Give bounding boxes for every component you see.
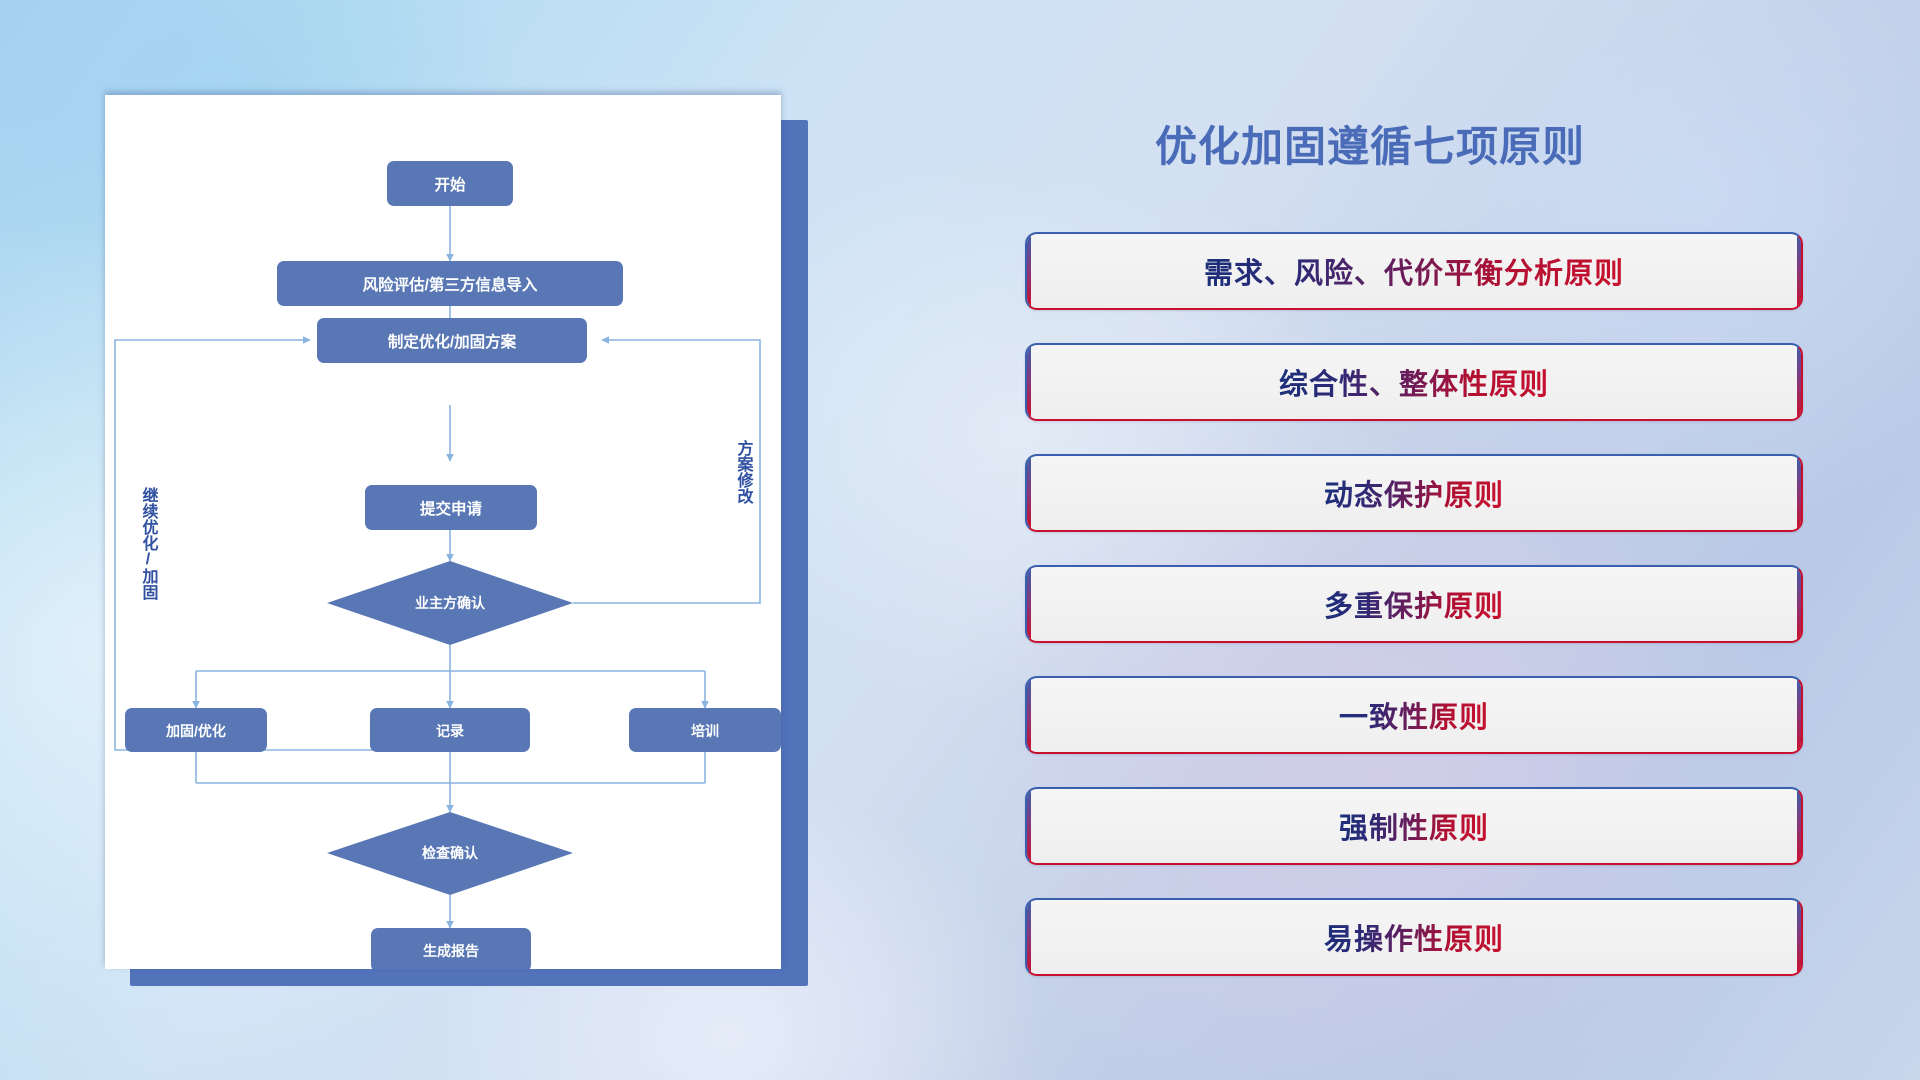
principle-card-4[interactable]: 多重保护原则 xyxy=(1025,565,1803,643)
node-risk-assessment[interactable]: 风险评估/第三方信息导入 xyxy=(277,261,623,306)
principle-card-label: 动态保护原则 xyxy=(1324,472,1504,514)
flowchart-diagram: 开始 风险评估/第三方信息导入 制定优化/加固方案 提交申请 业主方确认 xyxy=(105,95,781,969)
node-start[interactable]: 开始 xyxy=(387,161,513,206)
principle-card-2[interactable]: 综合性、整体性原则 xyxy=(1025,343,1803,421)
node-reinforce-optimize-label: 加固/优化 xyxy=(165,723,226,739)
principle-card-label: 一致性原则 xyxy=(1339,694,1489,736)
principle-card-5[interactable]: 一致性原则 xyxy=(1025,676,1803,754)
flowchart-nodes: 开始 风险评估/第三方信息导入 制定优化/加固方案 提交申请 业主方确认 xyxy=(125,161,781,969)
node-record[interactable]: 记录 xyxy=(370,708,530,752)
node-record-label: 记录 xyxy=(436,723,464,739)
node-owner-confirm-label: 业主方确认 xyxy=(415,595,486,611)
node-training-label: 培训 xyxy=(691,723,719,739)
principle-card-1[interactable]: 需求、风险、代价平衡分析原则 xyxy=(1025,232,1803,310)
node-training[interactable]: 培训 xyxy=(629,708,781,752)
principles-panel: 优化加固遵循七项原则 需求、风险、代价平衡分析原则 综合性、整体性原则 动态保护… xyxy=(1015,95,1815,995)
node-make-plan-label: 制定优化/加固方案 xyxy=(388,332,517,351)
node-owner-confirm[interactable]: 业主方确认 xyxy=(327,561,573,645)
node-check-confirm[interactable]: 检查确认 xyxy=(327,812,573,895)
principle-card-7[interactable]: 易操作性原则 xyxy=(1025,898,1803,976)
node-reinforce-optimize[interactable]: 加固/优化 xyxy=(125,708,267,752)
node-start-label: 开始 xyxy=(434,175,466,194)
node-risk-assessment-label: 风险评估/第三方信息导入 xyxy=(363,275,538,294)
principle-card-label: 易操作性原则 xyxy=(1324,916,1504,958)
edge-label-left-loop: 继续优化/加固 xyxy=(140,486,160,601)
node-check-confirm-label: 检查确认 xyxy=(422,845,479,861)
principle-card-label: 多重保护原则 xyxy=(1324,583,1504,625)
principles-list: 需求、风险、代价平衡分析原则 综合性、整体性原则 动态保护原则 多重保护原则 一… xyxy=(1025,232,1815,1009)
edge-label-right-loop: 方案修改 xyxy=(735,439,755,505)
principle-card-6[interactable]: 强制性原则 xyxy=(1025,787,1803,865)
flowchart-panel: 开始 风险评估/第三方信息导入 制定优化/加固方案 提交申请 业主方确认 xyxy=(105,95,781,969)
principle-card-label: 综合性、整体性原则 xyxy=(1279,361,1549,403)
principle-card-3[interactable]: 动态保护原则 xyxy=(1025,454,1803,532)
principle-card-label: 需求、风险、代价平衡分析原则 xyxy=(1204,250,1624,292)
node-generate-report-label: 生成报告 xyxy=(423,943,479,959)
node-make-plan[interactable]: 制定优化/加固方案 xyxy=(317,318,587,363)
node-submit-application-label: 提交申请 xyxy=(420,499,483,518)
node-submit-application[interactable]: 提交申请 xyxy=(365,485,537,530)
page-title: 优化加固遵循七项原则 xyxy=(1155,113,1585,174)
node-generate-report[interactable]: 生成报告 xyxy=(371,928,531,969)
principle-card-label: 强制性原则 xyxy=(1339,805,1489,847)
